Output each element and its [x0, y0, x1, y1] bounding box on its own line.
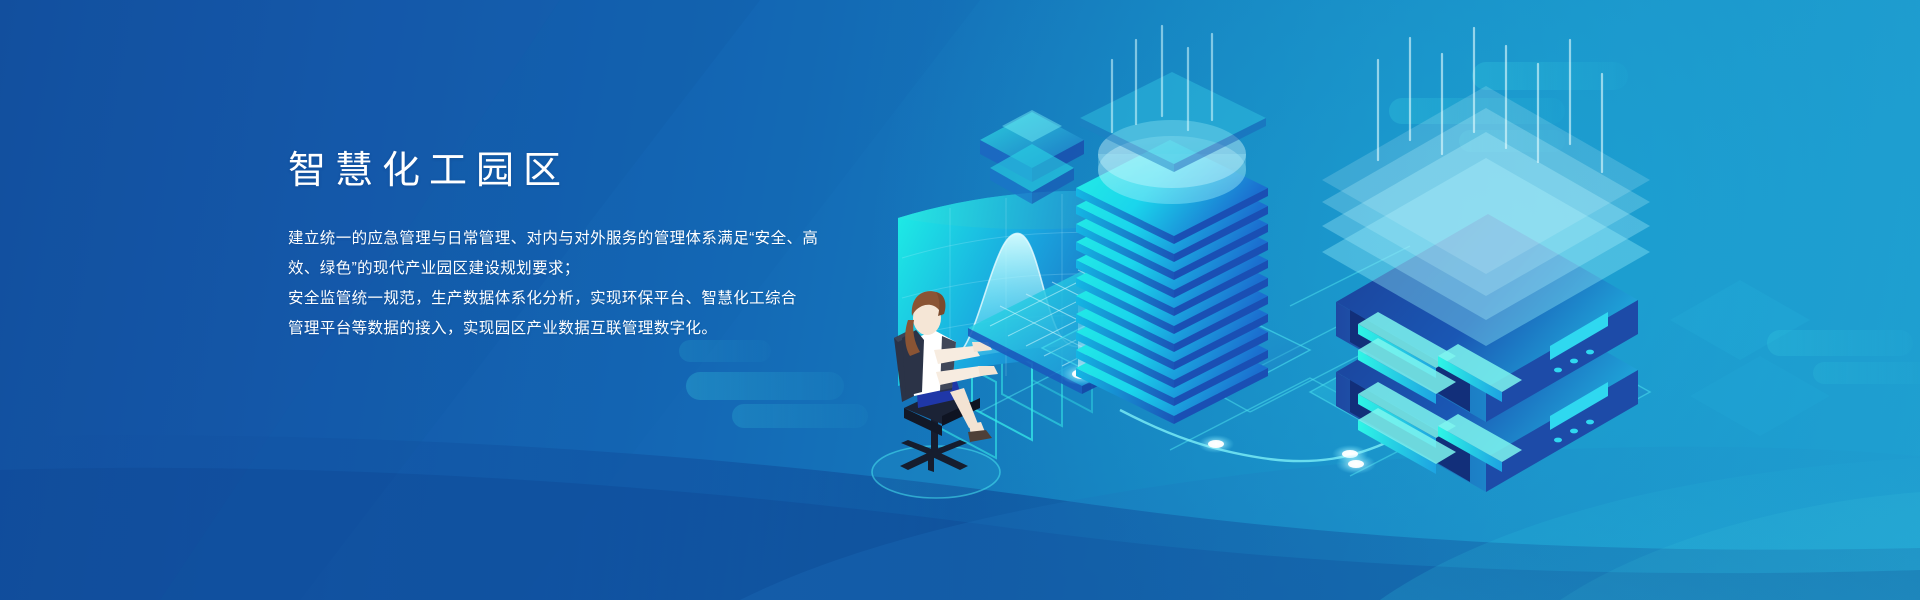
right-edge-accents — [1670, 280, 1830, 436]
hero-banner: 智慧化工园区 建立统一的应急管理与日常管理、对内与对外服务的管理体系满足“安全、… — [0, 0, 1920, 600]
floating-data-cube — [980, 110, 1084, 204]
stacked-server-tower — [1042, 26, 1310, 424]
smart-chemical-park-isometric-illustration — [650, 20, 1920, 580]
isometric-server-rack — [1310, 28, 1650, 492]
